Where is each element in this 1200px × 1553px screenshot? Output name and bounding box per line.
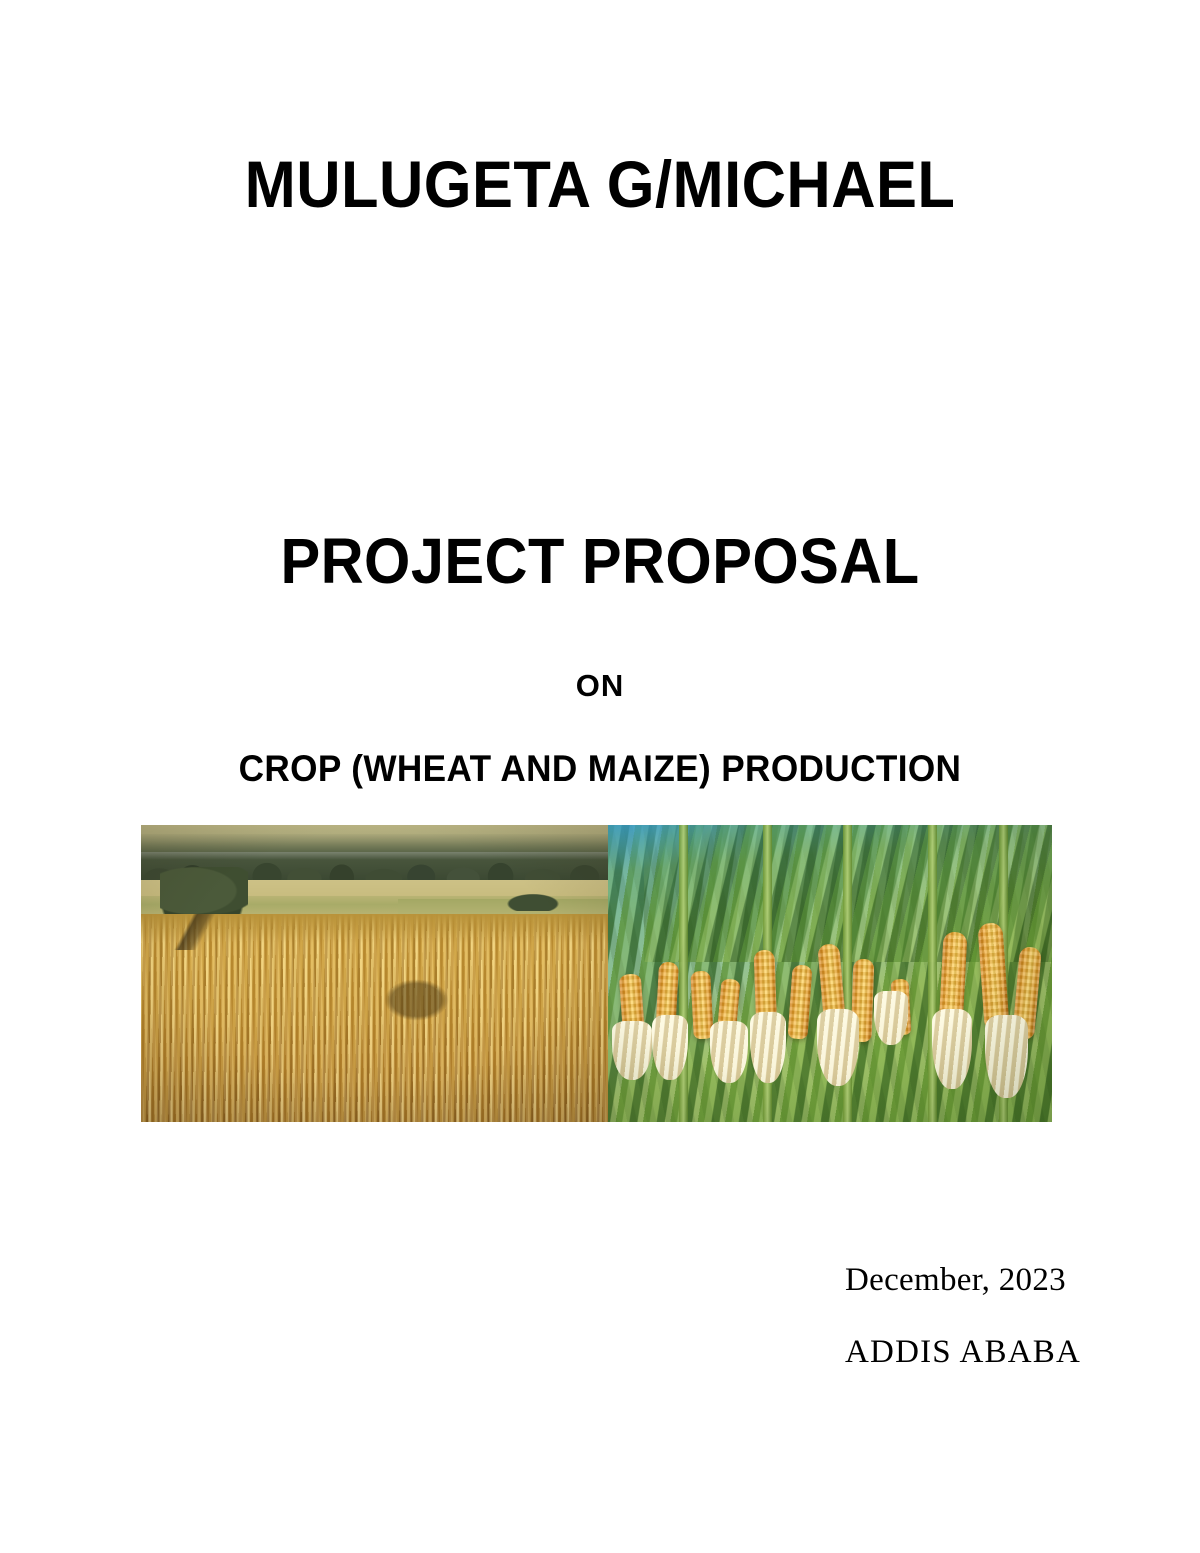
author-title: MULUGETA G/MICHAEL	[42, 150, 1158, 219]
cover-figure	[141, 825, 1052, 1122]
title-connector-word: ON	[0, 668, 1200, 704]
document-subject: CROP (WHEAT AND MAIZE) PRODUCTION	[30, 748, 1170, 790]
wheat-field-photo	[141, 825, 608, 1122]
wheat-vignette	[141, 825, 608, 1122]
cover-footer: December, 2023 ADDIS ABABA	[845, 1262, 1145, 1372]
maize-vignette	[608, 825, 1052, 1122]
maize-field-photo	[608, 825, 1052, 1122]
document-date: December, 2023	[845, 1262, 1145, 1300]
page-title: PROJECT PROPOSAL	[42, 528, 1158, 595]
document-page: MULUGETA G/MICHAEL PROJECT PROPOSAL ON C…	[0, 0, 1200, 1553]
document-location: ADDIS ABABA	[845, 1334, 1145, 1372]
